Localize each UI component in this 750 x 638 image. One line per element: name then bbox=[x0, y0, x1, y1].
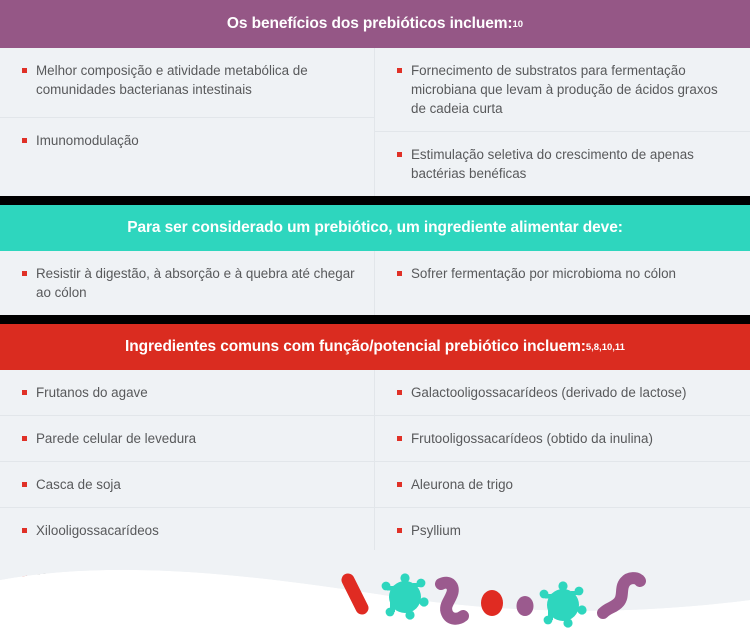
bullet-square-icon bbox=[22, 436, 27, 441]
criteria-column-right: Sofrer fermentação por microbioma no cól… bbox=[375, 251, 750, 315]
bullet-square-icon bbox=[397, 152, 402, 157]
list-item: Melhor composição e atividade metabólica… bbox=[0, 48, 374, 118]
virus-teal-left-icon bbox=[382, 573, 429, 619]
list-item-label: Melhor composição e atividade metabólica… bbox=[36, 61, 356, 99]
bullet-square-icon bbox=[22, 482, 27, 487]
coccus-red-icon bbox=[481, 590, 503, 616]
list-item: Xilooligossacarídeos bbox=[0, 508, 374, 554]
list-item: Parede celular de levedura bbox=[0, 416, 374, 462]
section-header-criteria-title: Para ser considerado um prebiótico, um i… bbox=[127, 219, 623, 237]
list-item: Casca de soja bbox=[0, 462, 374, 508]
section-divider bbox=[0, 196, 750, 205]
benefits-column-left: Melhor composição e atividade metabólica… bbox=[0, 48, 375, 196]
list-item-label: Imunomodulação bbox=[36, 131, 356, 150]
chain-bacterium-purple-left-icon bbox=[441, 583, 463, 619]
footer-decoration bbox=[0, 550, 750, 638]
section-header-ingredients-superscript: 5,8,10,11 bbox=[586, 342, 625, 353]
section-header-ingredients: Ingredientes comuns com função/potencial… bbox=[0, 324, 750, 370]
benefits-panel: Melhor composição e atividade metabólica… bbox=[0, 48, 750, 196]
list-item-label: Galactooligossacarídeos (derivado de lac… bbox=[411, 383, 732, 402]
prebiotics-infographic: Os benefícios dos prebióticos incluem:10… bbox=[0, 0, 750, 638]
list-item: Resistir à digestão, à absorção e à queb… bbox=[0, 251, 374, 315]
list-item: Estimulação seletiva do crescimento de a… bbox=[375, 132, 750, 196]
list-item: Aleurona de trigo bbox=[375, 462, 750, 508]
list-item-label: Estimulação seletiva do crescimento de a… bbox=[411, 145, 732, 183]
bullet-square-icon bbox=[22, 271, 27, 276]
rod-bacterium-red-icon bbox=[348, 580, 362, 608]
list-item-label: Frutanos do agave bbox=[36, 383, 356, 402]
section-header-ingredients-title: Ingredientes comuns com função/potencial… bbox=[125, 338, 586, 356]
section-header-criteria: Para ser considerado um prebiótico, um i… bbox=[0, 205, 750, 251]
section-header-benefits-superscript: 10 bbox=[513, 19, 524, 30]
section-header-benefits: Os benefícios dos prebióticos incluem:10 bbox=[0, 0, 750, 48]
bullet-square-icon bbox=[22, 68, 27, 73]
list-item-label: Parede celular de levedura bbox=[36, 429, 356, 448]
list-item-label: Sofrer fermentação por microbioma no cól… bbox=[411, 264, 732, 283]
list-item-label: Xilooligossacarídeos bbox=[36, 521, 356, 540]
bullet-square-icon bbox=[397, 390, 402, 395]
bullet-square-icon bbox=[22, 528, 27, 533]
bullet-square-icon bbox=[22, 390, 27, 395]
list-item-label: Psyllium bbox=[411, 521, 732, 540]
bullet-square-icon bbox=[397, 271, 402, 276]
list-item: Galactooligossacarídeos (derivado de lac… bbox=[375, 370, 750, 416]
list-item: Imunomodulação bbox=[0, 118, 374, 174]
criteria-column-left: Resistir à digestão, à absorção e à queb… bbox=[0, 251, 375, 315]
list-item: Fornecimento de substratos para fermenta… bbox=[375, 48, 750, 132]
list-item-label: Aleurona de trigo bbox=[411, 475, 732, 494]
coccus-purple-icon bbox=[517, 596, 534, 616]
list-item-label: Resistir à digestão, à absorção e à queb… bbox=[36, 264, 356, 302]
virus-teal-right-icon bbox=[540, 581, 587, 627]
list-item-label: Casca de soja bbox=[36, 475, 356, 494]
list-item: Psyllium bbox=[375, 508, 750, 554]
bullet-square-icon bbox=[397, 68, 402, 73]
bullet-square-icon bbox=[22, 138, 27, 143]
criteria-panel: Resistir à digestão, à absorção e à queb… bbox=[0, 251, 750, 315]
bullet-square-icon bbox=[397, 482, 402, 487]
section-divider bbox=[0, 315, 750, 324]
section-header-benefits-title: Os benefícios dos prebióticos incluem: bbox=[227, 15, 513, 33]
list-item: Frutanos do agave bbox=[0, 370, 374, 416]
list-item: Sofrer fermentação por microbioma no cól… bbox=[375, 251, 750, 307]
list-item-label: Frutooligossacarídeos (obtido da inulina… bbox=[411, 429, 732, 448]
list-item-label: Fornecimento de substratos para fermenta… bbox=[411, 61, 732, 118]
chain-bacterium-purple-right-icon bbox=[603, 578, 640, 613]
benefits-column-right: Fornecimento de substratos para fermenta… bbox=[375, 48, 750, 196]
microbe-illustrations bbox=[0, 550, 750, 638]
list-item: Frutooligossacarídeos (obtido da inulina… bbox=[375, 416, 750, 462]
bullet-square-icon bbox=[397, 436, 402, 441]
bullet-square-icon bbox=[397, 528, 402, 533]
